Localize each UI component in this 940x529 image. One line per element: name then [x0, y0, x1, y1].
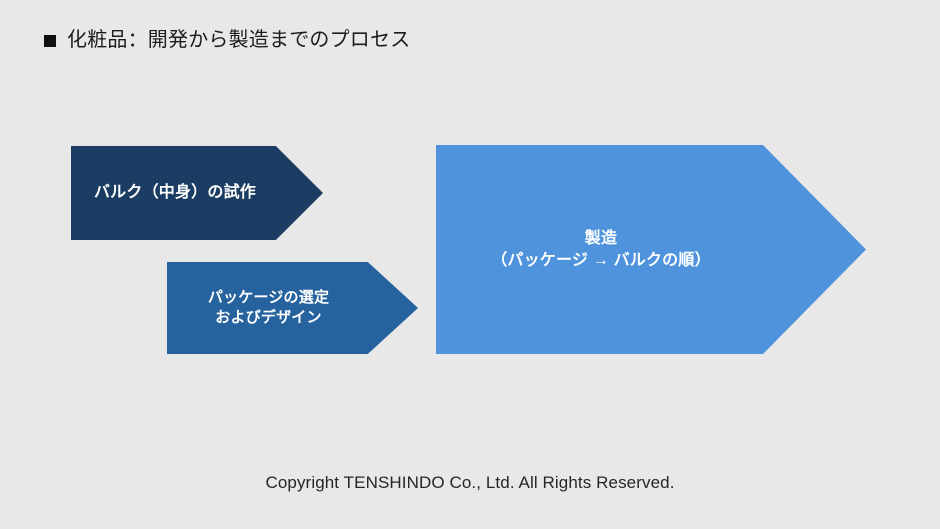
slide-canvas: 化粧品：開発から製造までのプロセス バルク（中身）の試作 パッケージの選定 およ…	[0, 0, 940, 529]
process-step-bulk-prototype[interactable]: バルク（中身）の試作	[71, 146, 323, 240]
black-square-bullet-icon	[44, 35, 56, 47]
process-step-label: 製造 （パッケージ → バルクの順）	[491, 228, 711, 270]
copyright-footer: Copyright TENSHINDO Co., Ltd. All Rights…	[0, 473, 940, 493]
process-step-label: パッケージの選定 およびデザイン	[208, 288, 329, 328]
page-title: 化粧品：開発から製造までのプロセス	[44, 30, 410, 50]
page-title-text: 化粧品：開発から製造までのプロセス	[67, 30, 410, 50]
process-step-package-selection[interactable]: パッケージの選定 およびデザイン	[167, 262, 418, 354]
process-step-label: バルク（中身）の試作	[94, 182, 256, 203]
process-step-manufacturing[interactable]: 製造 （パッケージ → バルクの順）	[436, 145, 866, 354]
